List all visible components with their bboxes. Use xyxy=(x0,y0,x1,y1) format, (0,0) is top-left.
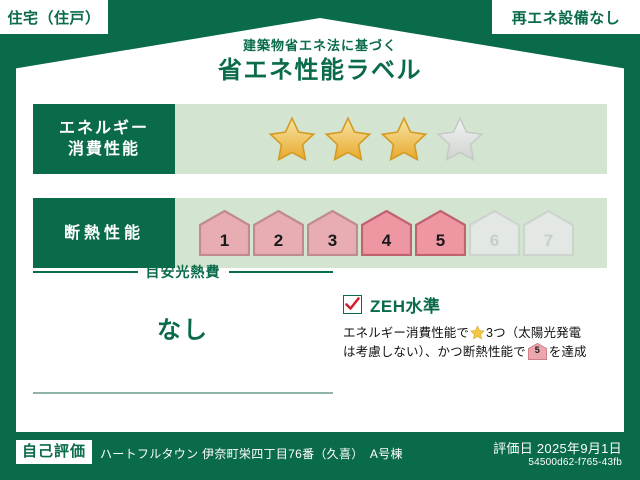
insulation-grade-value: 2 xyxy=(253,231,304,251)
zeh-title: ZEH水準 xyxy=(370,292,441,317)
utility-cost-value: なし xyxy=(33,310,333,345)
utility-cost-block: 目安光熱費 なし xyxy=(33,262,333,345)
utility-cost-heading: 目安光熱費 xyxy=(33,262,333,282)
title-subtitle: 建築物省エネ法に基づく xyxy=(0,38,640,54)
zeh-standard-block: ZEH水準 エネルギー消費性能で3つ（太陽光発電は考慮しない）、かつ断熱性能で5… xyxy=(343,292,608,362)
star-icon xyxy=(470,325,485,340)
label-title-block: 建築物省エネ法に基づく 省エネ性能ラベル xyxy=(0,38,640,86)
evaluation-id: 54500d62-f765-43fb xyxy=(528,457,622,468)
insulation-grade-3: 3 xyxy=(307,210,358,256)
insulation-grade-value: 3 xyxy=(307,231,358,251)
insulation-grade-scale: 1234567 xyxy=(175,210,574,256)
insulation-grade-1: 1 xyxy=(199,210,250,256)
insulation-grade-2: 2 xyxy=(253,210,304,256)
zeh-description: エネルギー消費性能で3つ（太陽光発電は考慮しない）、かつ断熱性能で5を達成 xyxy=(343,324,608,362)
dwelling-type-badge: 住宅（住戸） xyxy=(0,0,108,34)
utility-cost-heading-text: 目安光熱費 xyxy=(146,262,221,282)
energy-performance-label: 住宅（住戸） 再エネ設備なし 建築物省エネ法に基づく 省エネ性能ラベル エネルギ… xyxy=(0,0,640,480)
zeh-checkbox[interactable] xyxy=(343,295,362,314)
insulation-grade-value: 6 xyxy=(469,231,520,251)
star-rating xyxy=(175,115,485,163)
insulation-grade-4: 4 xyxy=(361,210,412,256)
insulation-grade-value: 1 xyxy=(199,231,250,251)
insulation-performance-label: 断熱性能 xyxy=(33,198,175,268)
star-icon-filled xyxy=(323,115,373,163)
building-name-text: ハートフルタウン 伊奈町栄四丁目76番（久喜） A号棟 xyxy=(100,445,403,462)
energy-performance-value xyxy=(175,104,607,174)
insulation-grade-value: 5 xyxy=(415,231,466,251)
star-icon-filled xyxy=(267,115,317,163)
zeh-heading: ZEH水準 xyxy=(343,292,608,317)
utility-cost-underline xyxy=(33,392,333,394)
renewable-equipment-badge: 再エネ設備なし xyxy=(492,0,640,34)
zeh-desc-part2: 3つ（太陽光発電 xyxy=(486,326,581,340)
insulation-grade-value: 7 xyxy=(523,231,574,251)
zeh-desc-part3: は考慮しない）、かつ断熱性能で xyxy=(343,345,526,359)
insulation-grade-6: 6 xyxy=(469,210,520,256)
zeh-grade-badge: 5 xyxy=(528,343,547,360)
check-icon xyxy=(345,297,360,312)
label-footer: 自己評価 ハートフルタウン 伊奈町栄四丁目76番（久喜） A号棟 評価日 202… xyxy=(0,432,640,480)
insulation-grade-5: 5 xyxy=(415,210,466,256)
energy-performance-label: エネルギー 消費性能 xyxy=(33,104,175,174)
zeh-desc-part1: エネルギー消費性能で xyxy=(343,326,469,340)
self-evaluation-badge: 自己評価 xyxy=(16,440,92,464)
star-icon-empty xyxy=(435,115,485,163)
insulation-performance-row: 断熱性能 1234567 xyxy=(33,198,607,268)
heading-rule-right xyxy=(229,271,334,273)
zeh-grade-badge-value: 5 xyxy=(528,341,547,360)
energy-label-line2: 消費性能 xyxy=(68,139,140,160)
zeh-desc-part4: を達成 xyxy=(549,345,587,359)
heading-rule-left xyxy=(33,271,138,273)
insulation-label-text: 断熱性能 xyxy=(64,223,144,244)
insulation-grade-value: 4 xyxy=(361,231,412,251)
energy-label-line1: エネルギー xyxy=(59,118,149,139)
energy-performance-row: エネルギー 消費性能 xyxy=(33,104,607,174)
star-icon-filled xyxy=(379,115,429,163)
evaluation-date: 評価日 2025年9月1日 xyxy=(493,438,622,457)
insulation-grade-7: 7 xyxy=(523,210,574,256)
insulation-performance-value: 1234567 xyxy=(175,198,607,268)
title-main: 省エネ性能ラベル xyxy=(0,56,640,86)
